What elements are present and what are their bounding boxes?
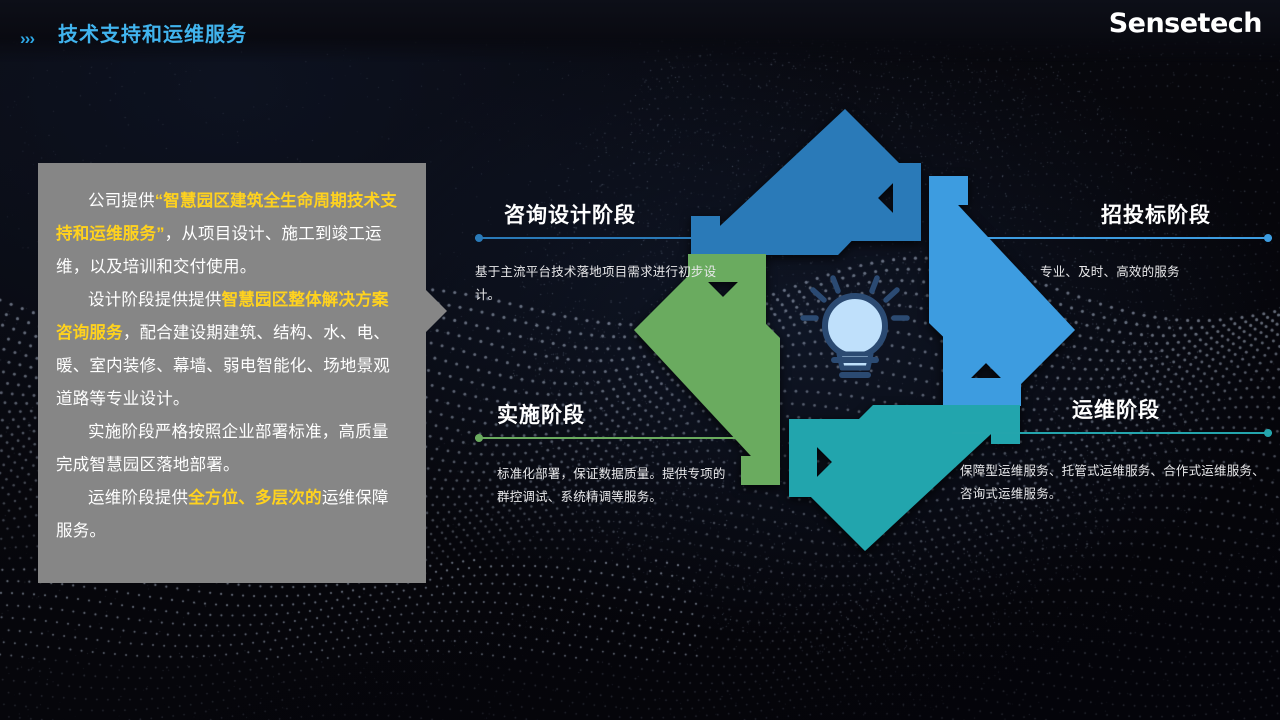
description-panel: 公司提供“智慧园区建筑全生命周期技术支持和运维服务”，从项目设计、施工到竣工运维… xyxy=(38,163,426,583)
chevron-right-icon: ››› xyxy=(20,30,34,47)
quadrant-title: 实施阶段 xyxy=(475,405,735,426)
rule-bar xyxy=(952,432,1272,434)
brand-logo: Sensetech xyxy=(1109,10,1262,37)
quadrant-rule xyxy=(952,431,1272,434)
quadrant-title: 运维阶段 xyxy=(960,400,1272,421)
rule-dot xyxy=(475,234,483,242)
rule-dot xyxy=(1264,429,1272,437)
quadrant-rule xyxy=(980,236,1272,239)
quadrant-description: 基于主流平台技术落地项目需求进行初步设计。 xyxy=(475,261,735,307)
rule-bar xyxy=(475,237,735,239)
quadrant-description: 专业、及时、高效的服务 xyxy=(1040,261,1272,284)
rule-dot xyxy=(1264,234,1272,242)
lightbulb-icon xyxy=(803,278,907,375)
quadrant-title: 咨询设计阶段 xyxy=(475,205,735,226)
quadrant-implementation: 实施阶段 标准化部署，保证数据质量。提供专项的群控调试、系统精调等服务。 xyxy=(475,405,735,509)
paragraph-4: 运维阶段提供全方位、多层次的运维保障服务。 xyxy=(56,482,404,548)
quadrant-rule xyxy=(475,236,735,239)
slide-header: ››› 技术支持和运维服务 Sensetech xyxy=(0,0,1280,62)
quadrant-title: 招投标阶段 xyxy=(1040,205,1272,226)
paragraph-2: 设计阶段提供提供智慧园区整体解决方案咨询服务，配合建设期建筑、结构、水、电、暖、… xyxy=(56,284,404,416)
quadrant-description: 保障型运维服务、托管式运维服务、合作式运维服务、咨询式运维服务。 xyxy=(960,460,1272,506)
quadrant-consulting-design: 咨询设计阶段 基于主流平台技术落地项目需求进行初步设计。 xyxy=(475,205,735,307)
quadrant-description: 标准化部署，保证数据质量。提供专项的群控调试、系统精调等服务。 xyxy=(475,463,735,509)
rule-bar xyxy=(980,237,1272,239)
rule-bar xyxy=(475,437,735,439)
panel-pointer-triangle xyxy=(426,290,447,332)
page-title: 技术支持和运维服务 xyxy=(58,25,247,45)
paragraph-1: 公司提供“智慧园区建筑全生命周期技术支持和运维服务”，从项目设计、施工到竣工运维… xyxy=(56,185,404,284)
quadrant-rule xyxy=(475,436,735,439)
quadrant-bidding: 招投标阶段 专业、及时、高效的服务 xyxy=(1040,205,1272,284)
rule-dot xyxy=(475,434,483,442)
quadrant-operations-maintenance: 运维阶段 保障型运维服务、托管式运维服务、合作式运维服务、咨询式运维服务。 xyxy=(960,400,1272,506)
paragraph-3: 实施阶段严格按照企业部署标准，高质量完成智慧园区落地部署。 xyxy=(56,416,404,482)
